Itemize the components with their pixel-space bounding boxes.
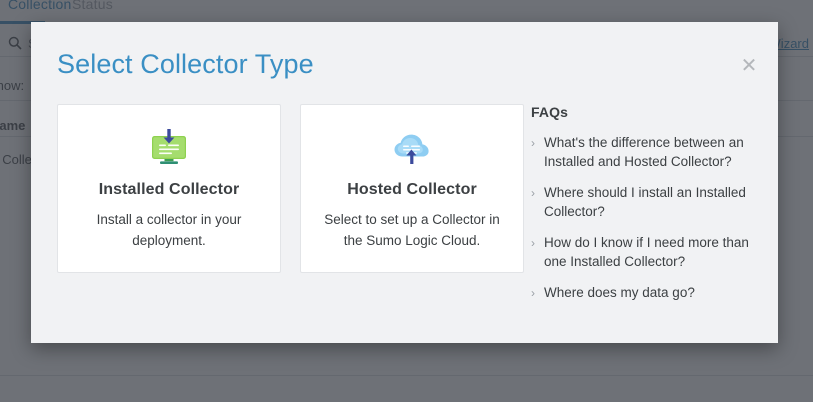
faq-item-1[interactable]: › Where should I install an Installed Co… <box>531 184 753 221</box>
installed-collector-icon <box>146 126 192 171</box>
faq-item-label: What's the difference between an Install… <box>544 134 753 171</box>
select-collector-type-dialog: ✕ Select Collector Type <box>31 22 778 343</box>
hosted-collector-description: Select to set up a Collector in the Sumo… <box>323 210 501 252</box>
chevron-right-icon: › <box>531 184 544 202</box>
page-title: Select Collector Type <box>57 49 314 80</box>
faqs-heading: FAQs <box>531 104 753 120</box>
faq-item-label: Where does my data go? <box>544 284 695 303</box>
chevron-right-icon: › <box>531 284 544 302</box>
installed-collector-description: Install a collector in your deployment. <box>80 210 258 252</box>
chevron-right-icon: › <box>531 134 544 152</box>
faq-item-0[interactable]: › What's the difference between an Insta… <box>531 134 753 171</box>
collector-type-cards: Installed Collector Install a collector … <box>57 104 524 273</box>
installed-collector-card[interactable]: Installed Collector Install a collector … <box>57 104 281 273</box>
close-icon[interactable]: ✕ <box>738 55 760 77</box>
chevron-right-icon: › <box>531 234 544 252</box>
faq-item-label: Where should I install an Installed Coll… <box>544 184 753 221</box>
faqs-panel: FAQs › What's the difference between an … <box>531 104 753 316</box>
faq-item-2[interactable]: › How do I know if I need more than one … <box>531 234 753 271</box>
hosted-collector-card[interactable]: Hosted Collector Select to set up a Coll… <box>300 104 524 273</box>
hosted-collector-title: Hosted Collector <box>347 181 477 199</box>
faq-item-label: How do I know if I need more than one In… <box>544 234 753 271</box>
faq-item-3[interactable]: › Where does my data go? <box>531 284 753 303</box>
hosted-collector-icon <box>389 126 435 171</box>
installed-collector-title: Installed Collector <box>99 181 240 199</box>
